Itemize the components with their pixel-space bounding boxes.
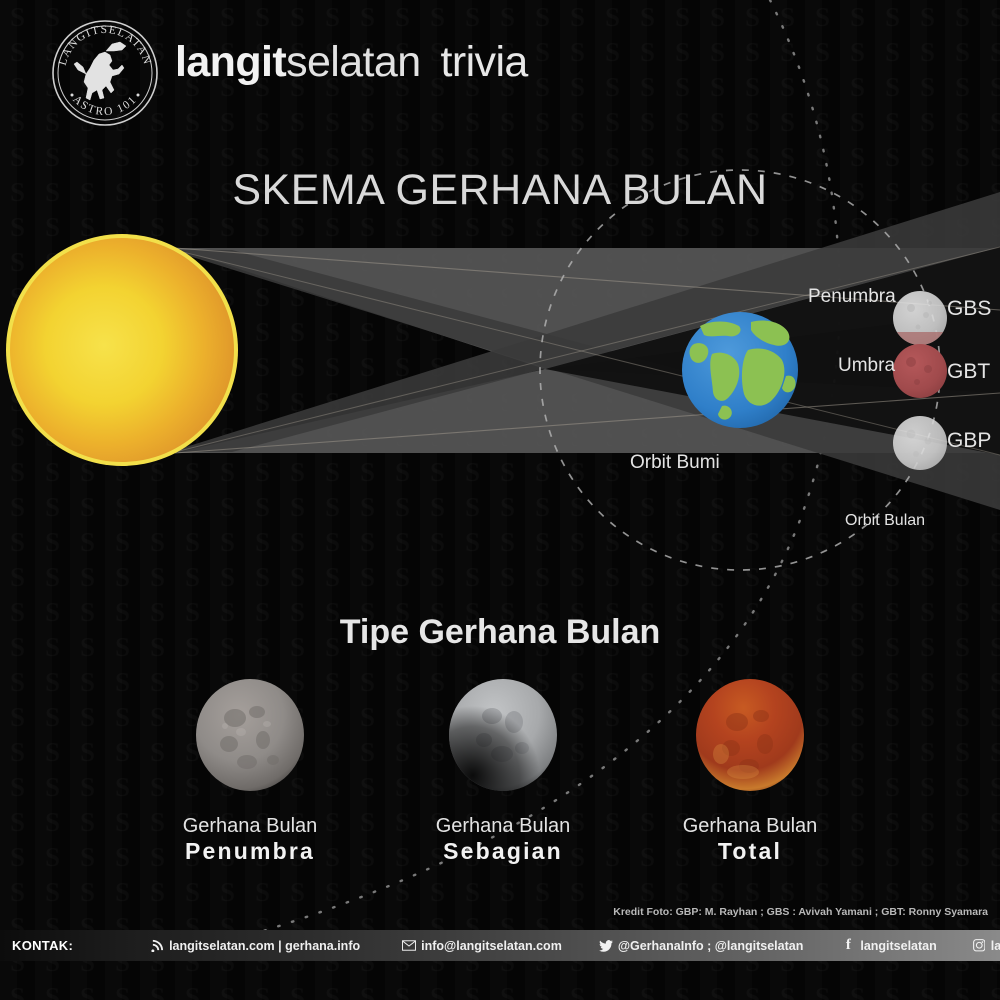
footer-text-facebook: langitselatan [860, 939, 936, 953]
footer-text-website: langitselatan.com | gerhana.info [169, 939, 360, 953]
footer-item-facebook[interactable]: f langitselatan [841, 939, 936, 953]
footer-item-twitter[interactable]: @GerhanaInfo ; @langitselatan [599, 939, 804, 953]
label-orbit-bulan: Orbit Bulan [845, 512, 925, 530]
infographic-page: SSSSSSSSSSSSSSSSSSSSSSSSSSSSSSSSSSSSSSSS… [0, 0, 1000, 1000]
earth-body [682, 312, 798, 428]
type-name-sebagian: Sebagian [373, 838, 633, 865]
instagram-icon [972, 939, 986, 953]
email-icon [402, 939, 416, 953]
footer-text-email: info@langitselatan.com [421, 939, 562, 953]
footer-item-instagram[interactable]: langitselatanmedia [972, 939, 1000, 953]
type-name-total: Total [620, 838, 880, 865]
label-orbit-bumi: Orbit Bumi [630, 452, 720, 474]
type-card-penumbra: Gerhana Bulan Penumbra [120, 678, 380, 865]
moon-photo-penumbra [195, 678, 305, 792]
moon-photo-sebagian [448, 678, 558, 792]
label-gbp: GBP [947, 429, 991, 453]
type-caption-total: Gerhana Bulan [620, 814, 880, 838]
footer-item-website[interactable]: langitselatan.com | gerhana.info [150, 939, 360, 953]
label-penumbra: Penumbra [808, 286, 896, 308]
label-gbt: GBT [947, 360, 990, 384]
footer-item-email[interactable]: info@langitselatan.com [402, 939, 562, 953]
sun-body [6, 234, 238, 466]
type-card-sebagian: Gerhana Bulan Sebagian [373, 678, 633, 865]
moon-gbp [893, 416, 947, 470]
photo-credit: Kredit Foto: GBP: M. Rayhan ; GBS : Aviv… [613, 906, 988, 918]
moon-gbt [893, 344, 947, 398]
footer-text-twitter: @GerhanaInfo ; @langitselatan [618, 939, 804, 953]
rss-icon [150, 939, 164, 953]
facebook-icon: f [841, 939, 855, 953]
type-caption-sebagian: Gerhana Bulan [373, 814, 633, 838]
type-card-total: Gerhana Bulan Total [620, 678, 880, 865]
footer-text-instagram: langitselatanmedia [991, 939, 1000, 953]
label-gbs: GBS [947, 297, 991, 321]
contact-footer-bar: KONTAK: langitselatan.com | gerhana.info… [0, 930, 1000, 961]
type-name-penumbra: Penumbra [120, 838, 380, 865]
types-title: Tipe Gerhana Bulan [0, 613, 1000, 652]
label-umbra: Umbra [838, 355, 895, 377]
umbra-cone [170, 192, 1000, 510]
type-caption-penumbra: Gerhana Bulan [120, 814, 380, 838]
eclipse-types-row: Gerhana Bulan Penumbra [0, 678, 1000, 878]
footer-label: KONTAK: [12, 938, 73, 953]
moon-photo-total [695, 678, 805, 792]
twitter-icon [599, 939, 613, 953]
